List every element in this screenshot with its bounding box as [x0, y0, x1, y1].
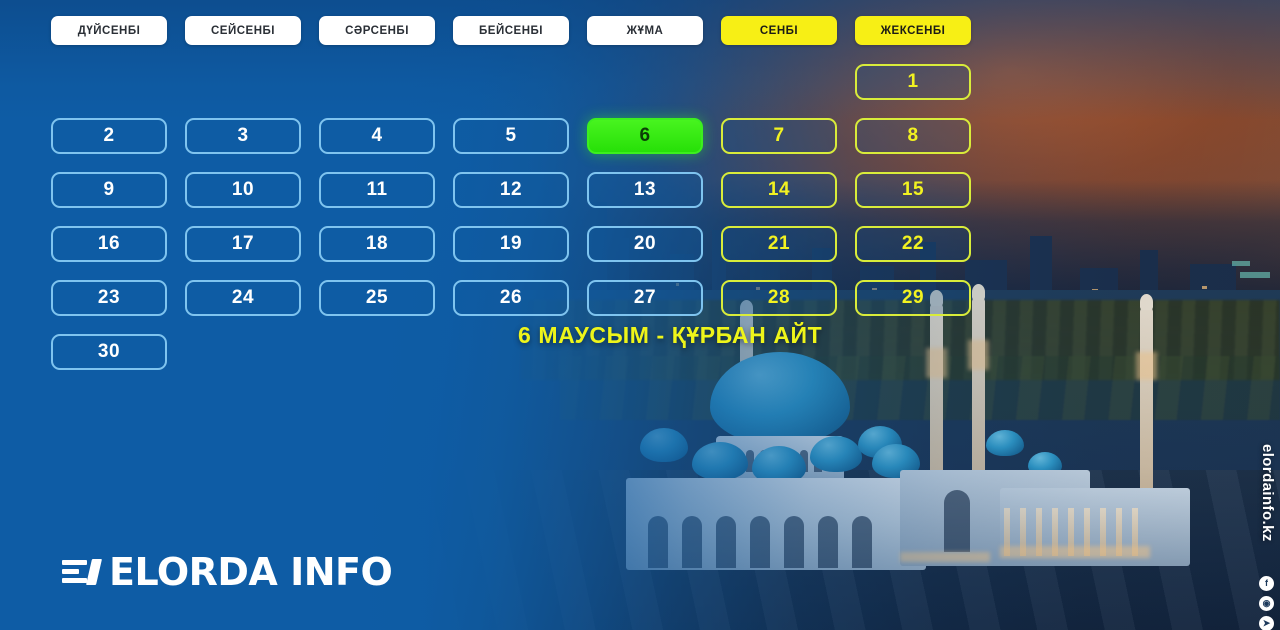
bars-slash-icon [62, 558, 96, 586]
calendar-cell-empty [185, 334, 301, 370]
site-url: elordainfo.kz [1259, 444, 1276, 542]
weekday-header-1[interactable]: СЕЙСЕНБІ [185, 16, 301, 45]
calendar-day-cell[interactable]: 30 [51, 334, 167, 370]
weekday-header-2[interactable]: СӘРСЕНБІ [319, 16, 435, 45]
logo-text: ELORDA INFO [109, 550, 392, 594]
calendar-day-cell[interactable]: 19 [453, 226, 569, 262]
calendar-day-cell[interactable]: 3 [185, 118, 301, 154]
calendar-day-cell[interactable]: 15 [855, 172, 971, 208]
calendar-day-cell[interactable]: 16 [51, 226, 167, 262]
instagram-icon[interactable]: ◉ [1259, 596, 1274, 611]
calendar-day-cell[interactable]: 10 [185, 172, 301, 208]
calendar-day-cell[interactable]: 7 [721, 118, 837, 154]
calendar-day-cell[interactable]: 1 [855, 64, 971, 100]
weekday-header-3[interactable]: БЕЙСЕНБІ [453, 16, 569, 45]
weekday-header-6[interactable]: ЖЕКСЕНБІ [855, 16, 971, 45]
calendar-cell-empty [855, 334, 971, 370]
calendar-day-cell[interactable]: 20 [587, 226, 703, 262]
calendar-day-cell[interactable]: 5 [453, 118, 569, 154]
calendar-day-cell[interactable]: 13 [587, 172, 703, 208]
social-links: f◉➤ [1259, 576, 1274, 630]
calendar-day-cell[interactable]: 17 [185, 226, 301, 262]
weekday-header-0[interactable]: ДҮЙСЕНБІ [51, 16, 167, 45]
facebook-icon[interactable]: f [1259, 576, 1274, 591]
weekday-header-4[interactable]: ЖҰМА [587, 16, 703, 45]
calendar-day-cell[interactable]: 8 [855, 118, 971, 154]
calendar-cell-empty [319, 64, 435, 100]
calendar-day-cell[interactable]: 4 [319, 118, 435, 154]
calendar-grid: 1234567891011121314151617181920212223242… [51, 64, 971, 370]
holiday-caption: 6 МАУСЫМ - ҚҰРБАН АЙТ [518, 322, 822, 349]
weekday-header-5[interactable]: СЕНБІ [721, 16, 837, 45]
calendar-day-cell[interactable]: 29 [855, 280, 971, 316]
calendar-day-cell[interactable]: 12 [453, 172, 569, 208]
telegram-icon[interactable]: ➤ [1259, 616, 1274, 630]
calendar-day-cell[interactable]: 23 [51, 280, 167, 316]
brand-logo: ELORDA INFO [62, 550, 392, 594]
calendar-day-cell[interactable]: 2 [51, 118, 167, 154]
calendar-cell-empty [453, 64, 569, 100]
calendar-cell-empty [319, 334, 435, 370]
calendar-day-cell[interactable]: 25 [319, 280, 435, 316]
calendar-day-cell[interactable]: 21 [721, 226, 837, 262]
calendar-cell-empty [51, 64, 167, 100]
weekday-header-bar: ДҮЙСЕНБІСЕЙСЕНБІСӘРСЕНБІБЕЙСЕНБІЖҰМАСЕНБ… [51, 16, 971, 45]
calendar-day-cell[interactable]: 14 [721, 172, 837, 208]
calendar-cell-empty [185, 64, 301, 100]
calendar-day-cell[interactable]: 6 [587, 118, 703, 154]
calendar-day-cell[interactable]: 18 [319, 226, 435, 262]
calendar-cell-empty [587, 64, 703, 100]
calendar-day-cell[interactable]: 11 [319, 172, 435, 208]
calendar-cell-empty [721, 64, 837, 100]
calendar-day-cell[interactable]: 26 [453, 280, 569, 316]
calendar-day-cell[interactable]: 9 [51, 172, 167, 208]
calendar-day-cell[interactable]: 22 [855, 226, 971, 262]
calendar-day-cell[interactable]: 24 [185, 280, 301, 316]
calendar-day-cell[interactable]: 27 [587, 280, 703, 316]
calendar-day-cell[interactable]: 28 [721, 280, 837, 316]
